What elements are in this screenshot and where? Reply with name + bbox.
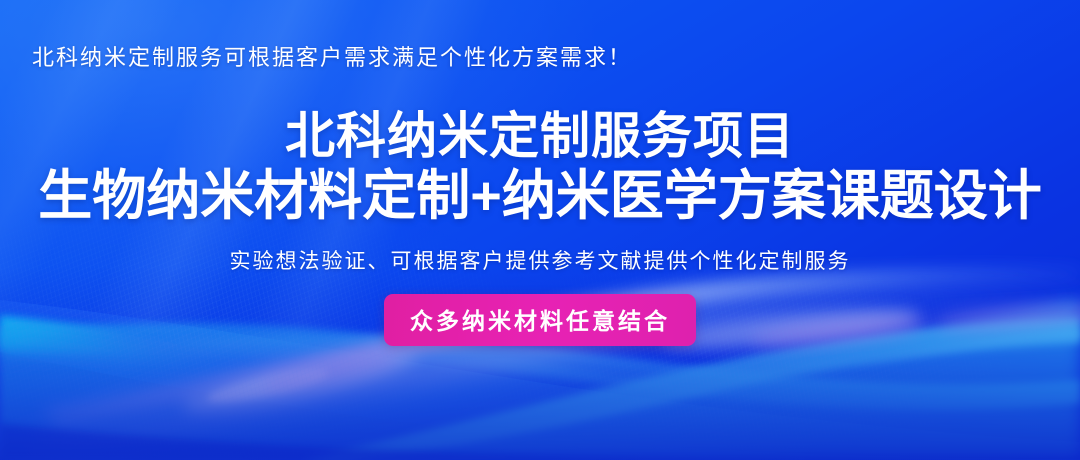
banner-kicker-text: 北科纳米定制服务可根据客户需求满足个性化方案需求！ [32, 40, 632, 72]
banner-title-line-1: 北科纳米定制服务项目 [0, 108, 1080, 164]
highlight-badge[interactable]: 众多纳米材料任意结合 [384, 294, 696, 346]
banner-content: 北科纳米定制服务可根据客户需求满足个性化方案需求！ 北科纳米定制服务项目 生物纳… [0, 0, 1080, 460]
banner-subtitle: 实验想法验证、可根据客户提供参考文献提供个性化定制服务 [0, 245, 1080, 275]
banner-badge-container: 众多纳米材料任意结合 [0, 294, 1080, 346]
promo-banner: 北科纳米定制服务可根据客户需求满足个性化方案需求！ 北科纳米定制服务项目 生物纳… [0, 0, 1080, 460]
banner-title-line-2: 生物纳米材料定制+纳米医学方案课题设计 [0, 167, 1080, 225]
